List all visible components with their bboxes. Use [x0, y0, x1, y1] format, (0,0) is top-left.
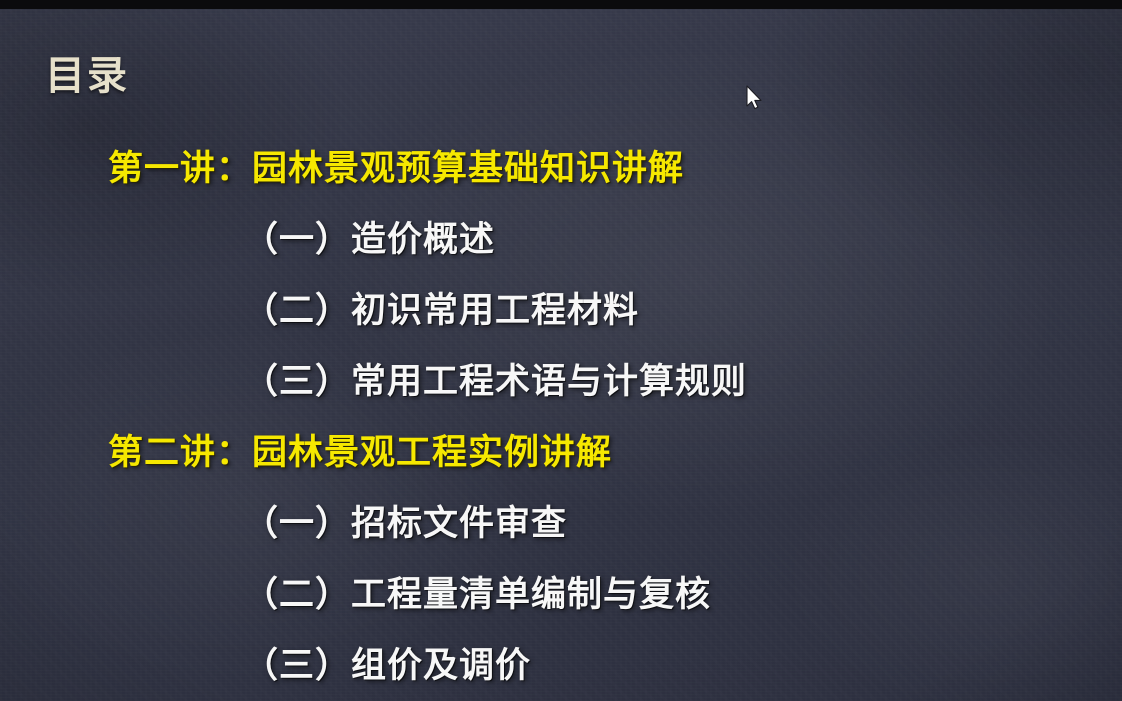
toc-item: （一）造价概述	[0, 204, 1122, 275]
toc-item: （三）组价及调价	[0, 630, 1122, 701]
toc-item: （三）常用工程术语与计算规则	[0, 346, 1122, 417]
toc-section-heading: 第二讲：园林景观工程实例讲解	[0, 417, 1122, 488]
slide-content: 目录 第一讲：园林景观预算基础知识讲解（一）造价概述（二）初识常用工程材料（三）…	[0, 0, 1122, 701]
page-title: 目录	[45, 56, 129, 96]
toc-item: （二）工程量清单编制与复核	[0, 559, 1122, 630]
toc-item: （二）初识常用工程材料	[0, 275, 1122, 346]
letterbox-top-bar	[0, 0, 1122, 9]
toc-item: （一）招标文件审查	[0, 488, 1122, 559]
presentation-slide-screen: 目录 第一讲：园林景观预算基础知识讲解（一）造价概述（二）初识常用工程材料（三）…	[0, 0, 1122, 701]
table-of-contents: 第一讲：园林景观预算基础知识讲解（一）造价概述（二）初识常用工程材料（三）常用工…	[0, 133, 1122, 701]
toc-section-heading: 第一讲：园林景观预算基础知识讲解	[0, 133, 1122, 204]
